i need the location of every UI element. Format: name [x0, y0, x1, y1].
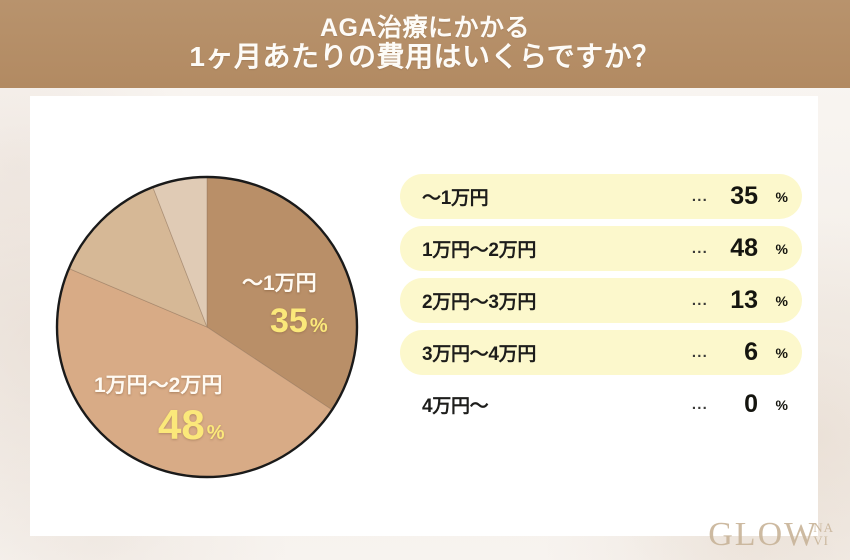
legend-row-dots: ...: [692, 188, 708, 205]
header-title-line1: AGA治療にかかる: [320, 16, 530, 42]
legend-row: 2万円～3万円...13%: [400, 278, 802, 323]
legend-list: ～1万円...35%1万円～2万円...48%2万円～3万円...13%3万円～…: [400, 174, 802, 434]
legend-row-value: 0: [718, 390, 758, 419]
brand-logo-mark: NA VI: [813, 522, 834, 547]
brand-logo-mark-bottom: VI: [813, 535, 834, 547]
header-banner: AGA治療にかかる 1ヶ月あたりの費用はいくらですか？: [0, 0, 850, 88]
legend-row-value: 6: [718, 338, 758, 367]
legend-row: ～1万円...35%: [400, 174, 802, 219]
legend-row-dots: ...: [692, 344, 708, 361]
content-card: ～1万円 35 % 1万円～2万円 48 % ～1万円...35%1万円～2万円…: [30, 96, 818, 536]
legend-row-value: 13: [718, 286, 758, 315]
legend-row-label: 3万円～4万円: [422, 339, 692, 366]
legend-row-value: 35: [718, 182, 758, 211]
brand-logo: GLOW NA VI: [708, 518, 834, 552]
legend-row-dots: ...: [692, 240, 708, 257]
legend-row: 1万円～2万円...48%: [400, 226, 802, 271]
legend-row-dots: ...: [692, 396, 708, 413]
brand-logo-text: GLOW: [708, 518, 818, 552]
legend-row-label: 2万円～3万円: [422, 287, 692, 314]
legend-row-value: 48: [718, 234, 758, 263]
legend-row-unit: %: [764, 241, 788, 257]
pie-chart-svg: [52, 172, 362, 482]
legend-row-unit: %: [764, 345, 788, 361]
legend-row: 4万円～...0%: [400, 382, 802, 427]
pie-chart: ～1万円 35 % 1万円～2万円 48 %: [52, 172, 362, 482]
header-title-line2: 1ヶ月あたりの費用はいくらですか？: [189, 43, 660, 72]
legend-row-label: 4万円～: [422, 391, 692, 418]
legend-row-dots: ...: [692, 292, 708, 309]
legend-row-label: 1万円～2万円: [422, 235, 692, 262]
legend-row: 3万円～4万円...6%: [400, 330, 802, 375]
legend-row-label: ～1万円: [422, 183, 692, 210]
legend-row-unit: %: [764, 293, 788, 309]
legend-row-unit: %: [764, 189, 788, 205]
legend-row-unit: %: [764, 397, 788, 413]
pie-slices: [57, 177, 357, 477]
